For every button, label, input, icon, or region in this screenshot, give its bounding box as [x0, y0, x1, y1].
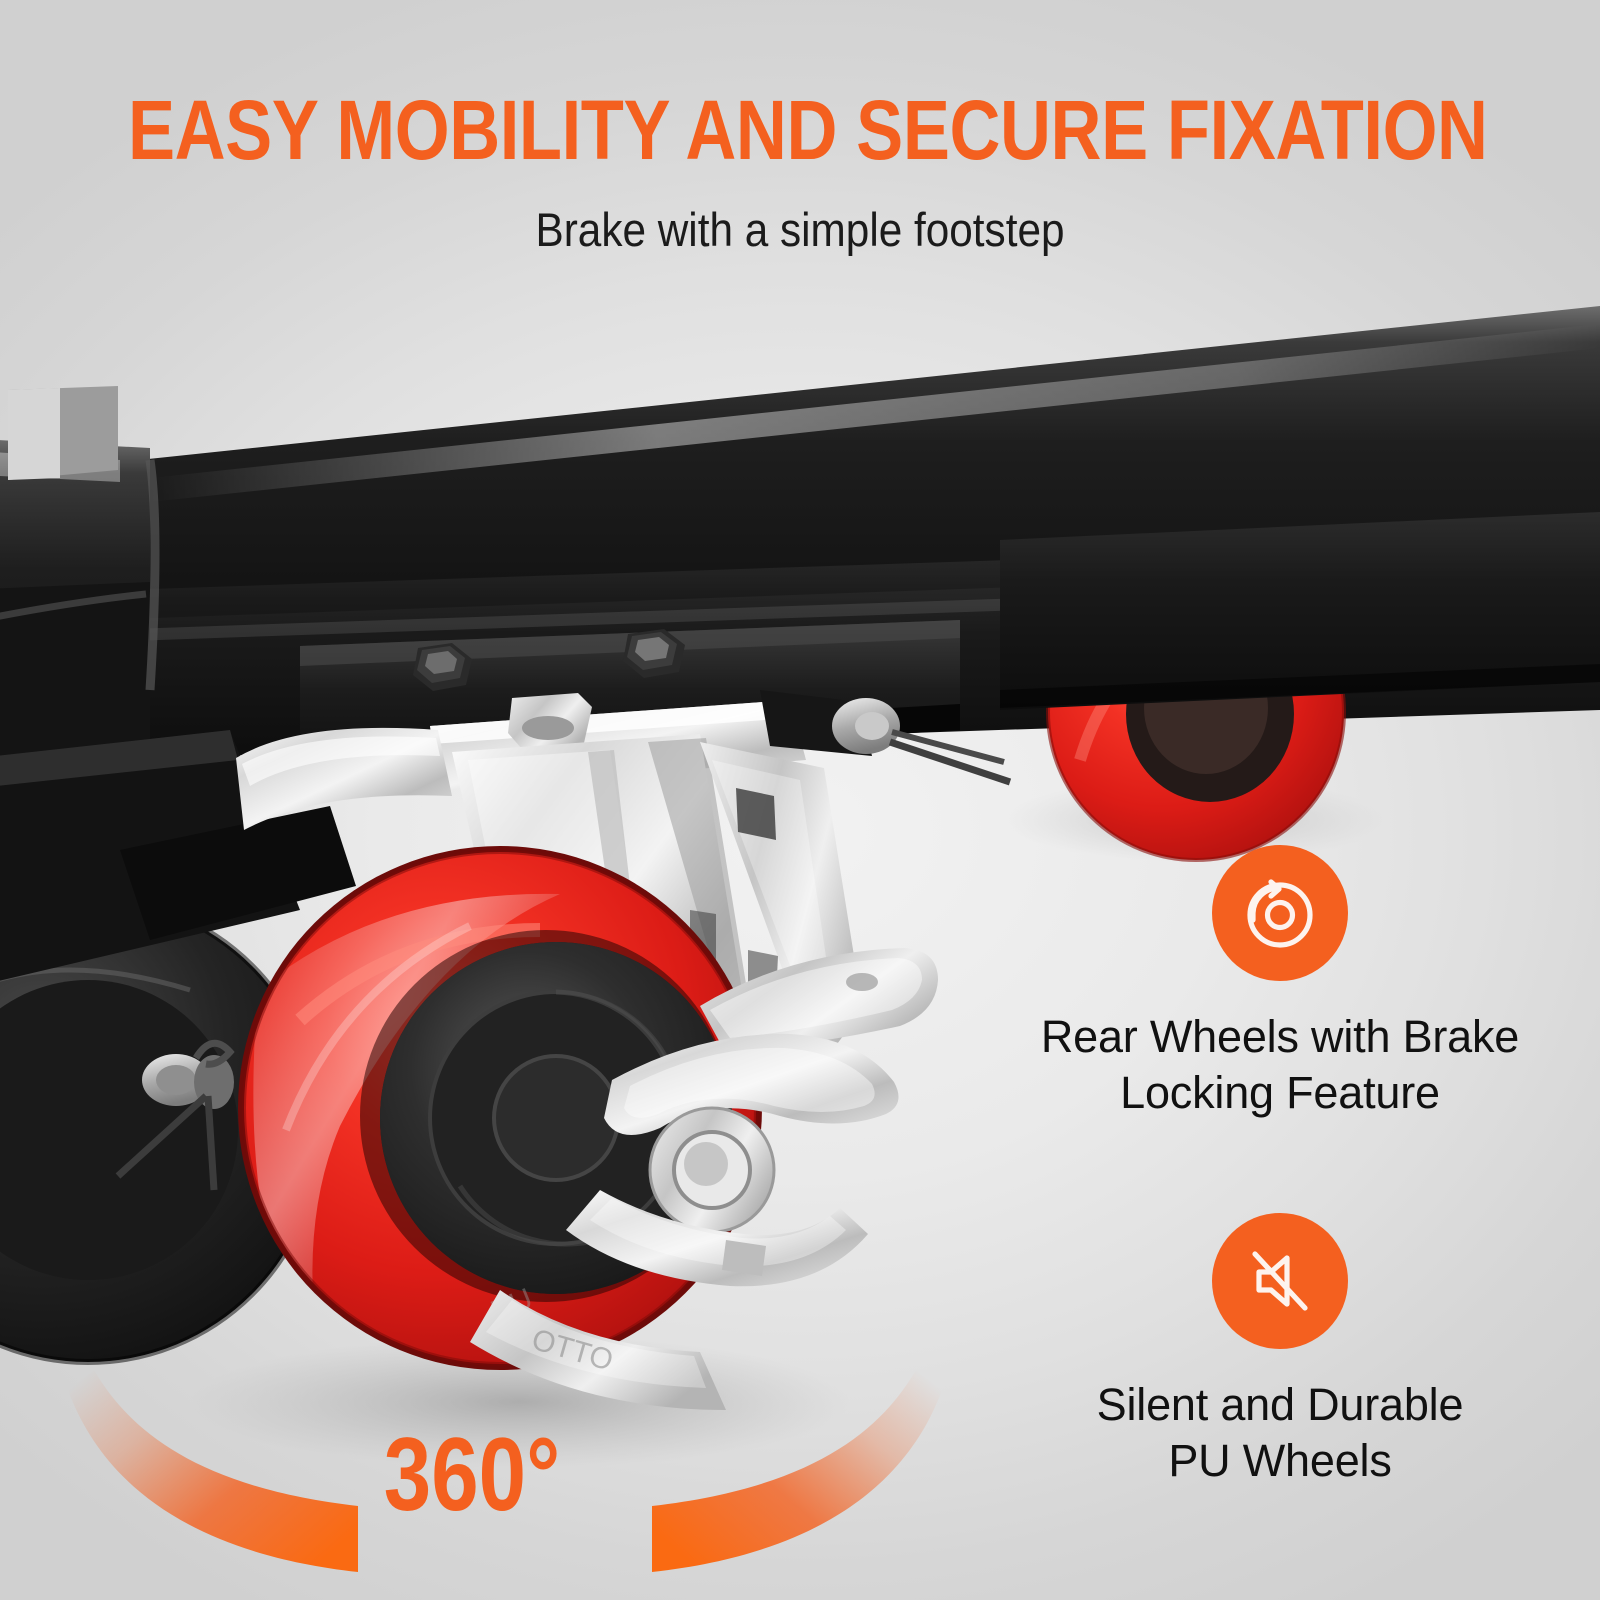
- feature-line-1: Rear Wheels with Brake: [1000, 1009, 1560, 1065]
- feature-line-2: Locking Feature: [1000, 1065, 1560, 1121]
- feature-silent-pu-wheels-text: Silent and Durable PU Wheels: [1000, 1377, 1560, 1489]
- brake-disc-icon: [1212, 845, 1348, 981]
- feature-silent-pu-wheels: Silent and Durable PU Wheels: [1000, 1213, 1560, 1489]
- feature-brake-locking-text: Rear Wheels with Brake Locking Feature: [1000, 1009, 1560, 1121]
- rear-caster-wheel: [1000, 512, 1600, 860]
- page-subtitle: Brake with a simple footstep: [80, 206, 1520, 253]
- rotation-arc-left: [68, 1370, 358, 1572]
- page-title: EASY MOBILITY AND SECURE FIXATION: [128, 88, 1472, 172]
- rotation-arc-right: [652, 1370, 942, 1572]
- feature-brake-locking: Rear Wheels with Brake Locking Feature: [1000, 845, 1560, 1121]
- feature-line-2: PU Wheels: [1000, 1433, 1560, 1489]
- rotation-badge-label: 360°: [374, 1423, 571, 1527]
- frame-corner-bracket: [0, 386, 155, 790]
- mute-speaker-icon: [1212, 1213, 1348, 1349]
- product-feature-poster: EASY MOBILITY AND SECURE FIXATION Brake …: [0, 0, 1600, 1600]
- feature-line-1: Silent and Durable: [1000, 1377, 1560, 1433]
